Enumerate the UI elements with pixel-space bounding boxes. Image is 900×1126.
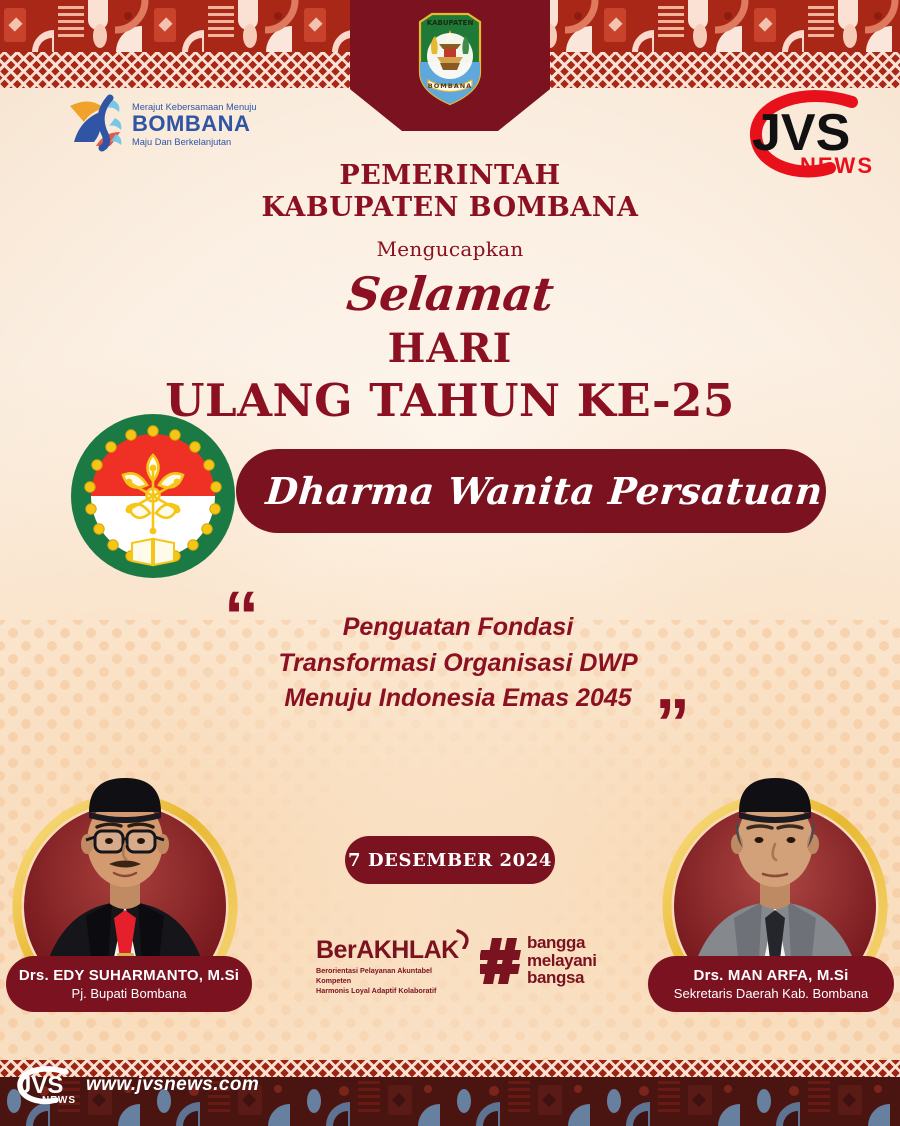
dharma-wanita-persatuan-emblem	[70, 413, 236, 579]
dwp-emblem-svg	[70, 413, 236, 579]
headline-hari: HARI	[0, 325, 900, 372]
berakhlak-swoosh-icon	[456, 929, 474, 949]
headline-selamat: Selamat	[0, 267, 900, 321]
dharma-wanita-banner: Dharma Wanita Persatuan	[236, 449, 826, 533]
official-role-left: Pj. Bupati Bombana	[72, 986, 187, 1001]
footer-website-url[interactable]: www.jvsnews.com	[86, 1060, 259, 1109]
berakhlak-wordmark: BerAKHLAK	[316, 938, 466, 963]
quote-line-3: Menuju Indonesia Emas 2045	[248, 681, 668, 717]
bmb-line-3: bangsa	[527, 969, 597, 987]
berakhlak-main: AKHLAK	[356, 936, 459, 964]
headline-line-1: PEMERINTAH	[0, 160, 900, 192]
official-role-right: Sekretaris Daerah Kab. Bombana	[674, 986, 868, 1001]
quote-text: Penguatan Fondasi Transformasi Organisas…	[248, 610, 668, 717]
svg-text:KABUPATEN: KABUPATEN	[427, 19, 474, 27]
berakhlak-logo: BerAKHLAK Berorientasi Pelayanan Akuntab…	[316, 938, 466, 994]
event-date-badge: 7 DESEMBER 2024	[345, 836, 555, 884]
bangga-melayani-bangsa-logo: bangga melayani bangsa	[480, 934, 602, 994]
footer-jvs-logo[interactable]: JVS NEWS	[12, 1065, 78, 1105]
hashtag-icon	[480, 936, 522, 986]
bombana-anniversary-logo: Merajut Kebersamaan Menuju BOMBANA Maju …	[66, 92, 256, 154]
bombana-tagline-bottom: Maju Dan Berkelanjutan	[132, 137, 231, 147]
footer-jvs-logo-svg: JVS NEWS	[12, 1065, 78, 1105]
bombana-regency-emblem-icon: KABUPATEN BOMBANA	[350, 0, 550, 131]
berakhlak-tagline-1: Berorientasi Pelayanan Akuntabel Kompete…	[316, 966, 466, 986]
footer-news-wordmark: NEWS	[42, 1095, 76, 1105]
event-date-label: 7 DESEMBER 2024	[348, 850, 552, 871]
bmb-line-2: melayani	[527, 952, 597, 970]
bombana-logo-svg: Merajut Kebersamaan Menuju BOMBANA Maju …	[66, 92, 256, 154]
official-name-left: Drs. EDY SUHARMANTO, M.Si	[19, 967, 239, 984]
official-badge-right: Drs. MAN ARFA, M.Si Sekretaris Daerah Ka…	[648, 956, 894, 1012]
quote-line-1: Penguatan Fondasi	[248, 610, 668, 646]
bmb-line-1: bangga	[527, 934, 597, 952]
quote-line-2: Transformasi Organisasi DWP	[248, 646, 668, 682]
dharma-wanita-banner-title: Dharma Wanita Persatuan	[238, 469, 825, 513]
berakhlak-prefix: Ber	[316, 936, 356, 964]
bottom-border: JVS NEWS www.jvsnews.com	[0, 1060, 900, 1126]
official-badge-left: Drs. EDY SUHARMANTO, M.Si Pj. Bupati Bom…	[6, 956, 252, 1012]
headline-mengucapkan: Mengucapkan	[0, 237, 900, 261]
crest-shield: KABUPATEN BOMBANA	[350, 0, 550, 131]
official-name-right: Drs. MAN ARFA, M.Si	[694, 967, 849, 984]
headline-line-2: KABUPATEN BOMBANA	[0, 192, 900, 224]
headline-block: PEMERINTAH KABUPATEN BOMBANA Mengucapkan…	[0, 160, 900, 427]
poster-canvas: KABUPATEN BOMBANA	[0, 0, 900, 1126]
berakhlak-tagline-2: Harmonis Loyal Adaptif Kolaboratif	[316, 986, 466, 996]
bombana-wordmark: BOMBANA	[132, 111, 250, 136]
svg-text:BOMBANA: BOMBANA	[428, 82, 472, 90]
